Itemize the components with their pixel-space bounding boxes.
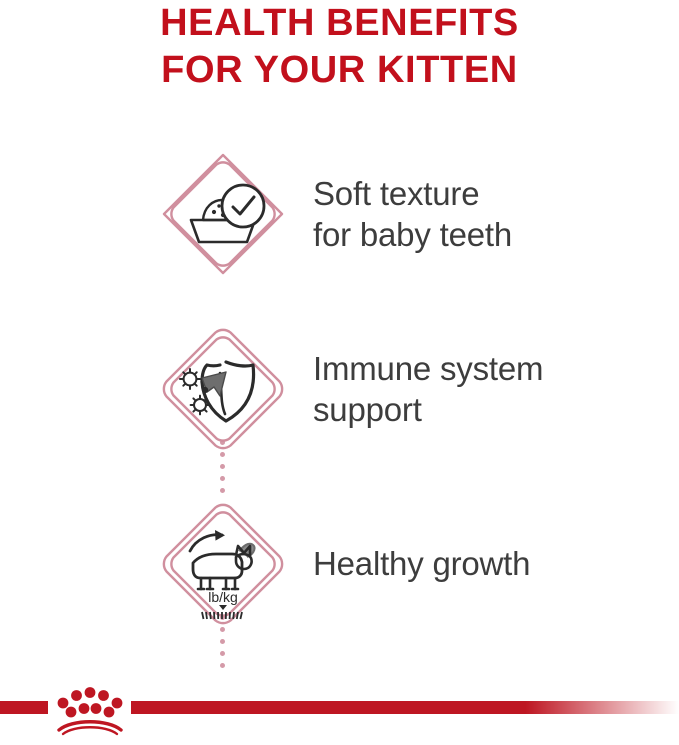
footer-bar-left <box>0 701 48 714</box>
connector-dot <box>220 639 225 644</box>
connector-dot <box>220 663 225 668</box>
benefit-text-line-1: Immune system <box>313 348 679 389</box>
connector-dot <box>220 488 225 493</box>
benefits-list: Soft texture for baby teeth <box>0 148 679 629</box>
connector-dot <box>220 476 225 481</box>
benefit-icon-cell <box>0 323 290 454</box>
footer-brand-bar <box>0 678 679 740</box>
page-title: HEALTH BENEFITS FOR YOUR KITTEN <box>0 0 679 94</box>
food-bowl-check-icon <box>160 151 286 277</box>
royal-canin-crown-logo <box>48 678 132 740</box>
benefit-text-line-2: support <box>313 389 679 430</box>
benefit-text-line-1: Soft texture <box>313 173 679 214</box>
scale-unit-label: lb/kg <box>208 589 238 605</box>
footer-bar-right <box>131 701 679 714</box>
benefit-icon-cell <box>0 148 290 279</box>
shield-germs-icon <box>160 326 286 452</box>
benefit-item-soft-texture: Soft texture for baby teeth <box>0 148 679 279</box>
benefit-item-healthy-growth: lb/kg <box>0 498 679 629</box>
connector-dot <box>220 464 225 469</box>
benefit-text-healthy-growth: Healthy growth <box>290 543 679 584</box>
title-line-2: FOR YOUR KITTEN <box>0 47 679 94</box>
kitten-growth-scale-icon: lb/kg <box>160 501 286 627</box>
benefit-text-line-1: Healthy growth <box>313 543 679 584</box>
connector-dot <box>220 651 225 656</box>
benefit-text-soft-texture: Soft texture for baby teeth <box>290 173 679 255</box>
benefit-item-immune-support: Immune system support <box>0 323 679 454</box>
benefit-text-immune-support: Immune system support <box>290 348 679 430</box>
title-line-1: HEALTH BENEFITS <box>0 0 679 47</box>
benefit-icon-cell: lb/kg <box>0 498 290 629</box>
benefit-text-line-2: for baby teeth <box>313 214 679 255</box>
